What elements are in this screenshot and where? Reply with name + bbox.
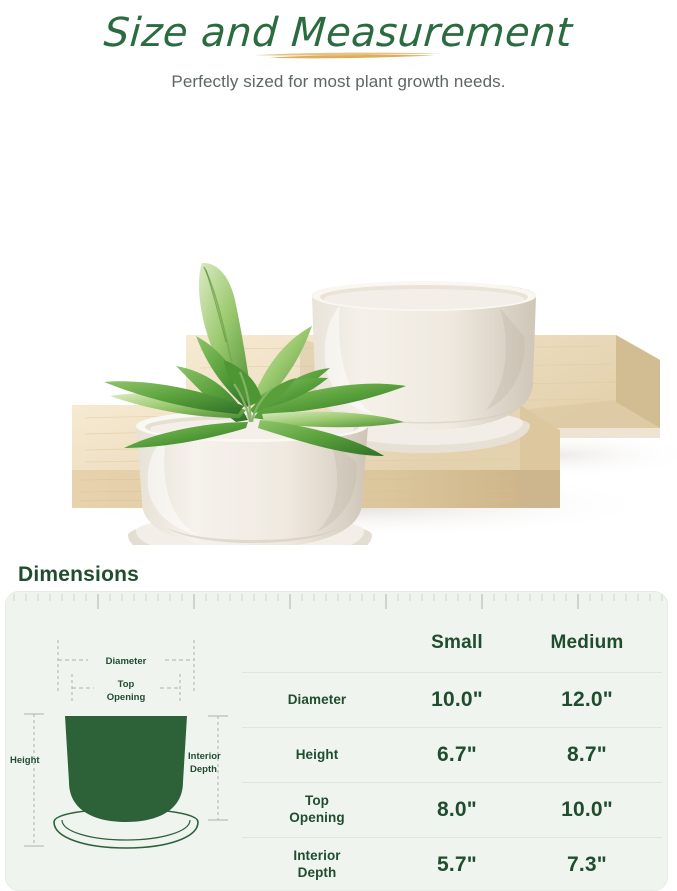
page-subtitle: Perfectly sized for most plant growth ne… bbox=[0, 72, 677, 92]
row-label-interior-depth: Interior Depth bbox=[242, 848, 392, 882]
table-header-small: Small bbox=[392, 632, 522, 654]
product-photo-illustration bbox=[0, 110, 677, 545]
pot-body-shape bbox=[65, 716, 187, 822]
product-photo bbox=[0, 110, 677, 545]
row-value-height-small: 6.7" bbox=[392, 743, 522, 767]
row-value-diameter-small: 10.0" bbox=[392, 688, 522, 712]
diagram-label-top-opening-2: Opening bbox=[107, 692, 146, 703]
diagram-label-interior-depth-2: Depth bbox=[190, 764, 217, 775]
diagram-label-top-opening-1: Top bbox=[118, 679, 135, 690]
diagram-label-interior-depth-1: Interior bbox=[188, 751, 221, 762]
dimensions-panel: Diameter Top Opening Height bbox=[5, 591, 668, 891]
table-header-medium: Medium bbox=[522, 632, 652, 654]
dimensions-heading: Dimensions bbox=[18, 563, 139, 587]
pot-diagram-illustration: Diameter Top Opening Height bbox=[10, 632, 242, 872]
table-row: Interior Depth 5.7" 7.3" bbox=[242, 837, 662, 891]
row-value-top-opening-medium: 10.0" bbox=[522, 798, 652, 822]
page-title: Size and Measurement bbox=[103, 8, 575, 58]
row-value-height-medium: 8.7" bbox=[522, 743, 652, 767]
ruler-ticks-icon bbox=[6, 592, 668, 614]
header: Size and Measurement Perfectly sized for… bbox=[0, 0, 677, 92]
table-row: Height 6.7" 8.7" bbox=[242, 727, 662, 782]
pot-diagram: Diameter Top Opening Height bbox=[10, 632, 242, 872]
row-label-diameter: Diameter bbox=[242, 692, 392, 709]
row-label-interior-depth-line2: Depth bbox=[242, 865, 392, 882]
row-value-diameter-medium: 12.0" bbox=[522, 688, 652, 712]
title-wrap: Size and Measurement bbox=[98, 8, 578, 58]
table-row: Top Opening 8.0" 10.0" bbox=[242, 782, 662, 837]
diagram-label-diameter: Diameter bbox=[106, 656, 147, 667]
row-label-top-opening-line2: Opening bbox=[242, 810, 392, 827]
row-label-top-opening: Top Opening bbox=[242, 793, 392, 827]
row-label-interior-depth-line1: Interior bbox=[242, 848, 392, 865]
table-row: Diameter 10.0" 12.0" bbox=[242, 672, 662, 727]
row-value-top-opening-small: 8.0" bbox=[392, 798, 522, 822]
diagram-label-height: Height bbox=[10, 755, 40, 766]
row-label-top-opening-line1: Top bbox=[242, 793, 392, 810]
table-header-row: Small Medium bbox=[242, 614, 662, 672]
row-value-interior-depth-medium: 7.3" bbox=[522, 853, 652, 877]
dimensions-table: Small Medium Diameter 10.0" 12.0" Height… bbox=[242, 614, 662, 891]
row-label-height: Height bbox=[242, 747, 392, 764]
row-value-interior-depth-small: 5.7" bbox=[392, 853, 522, 877]
